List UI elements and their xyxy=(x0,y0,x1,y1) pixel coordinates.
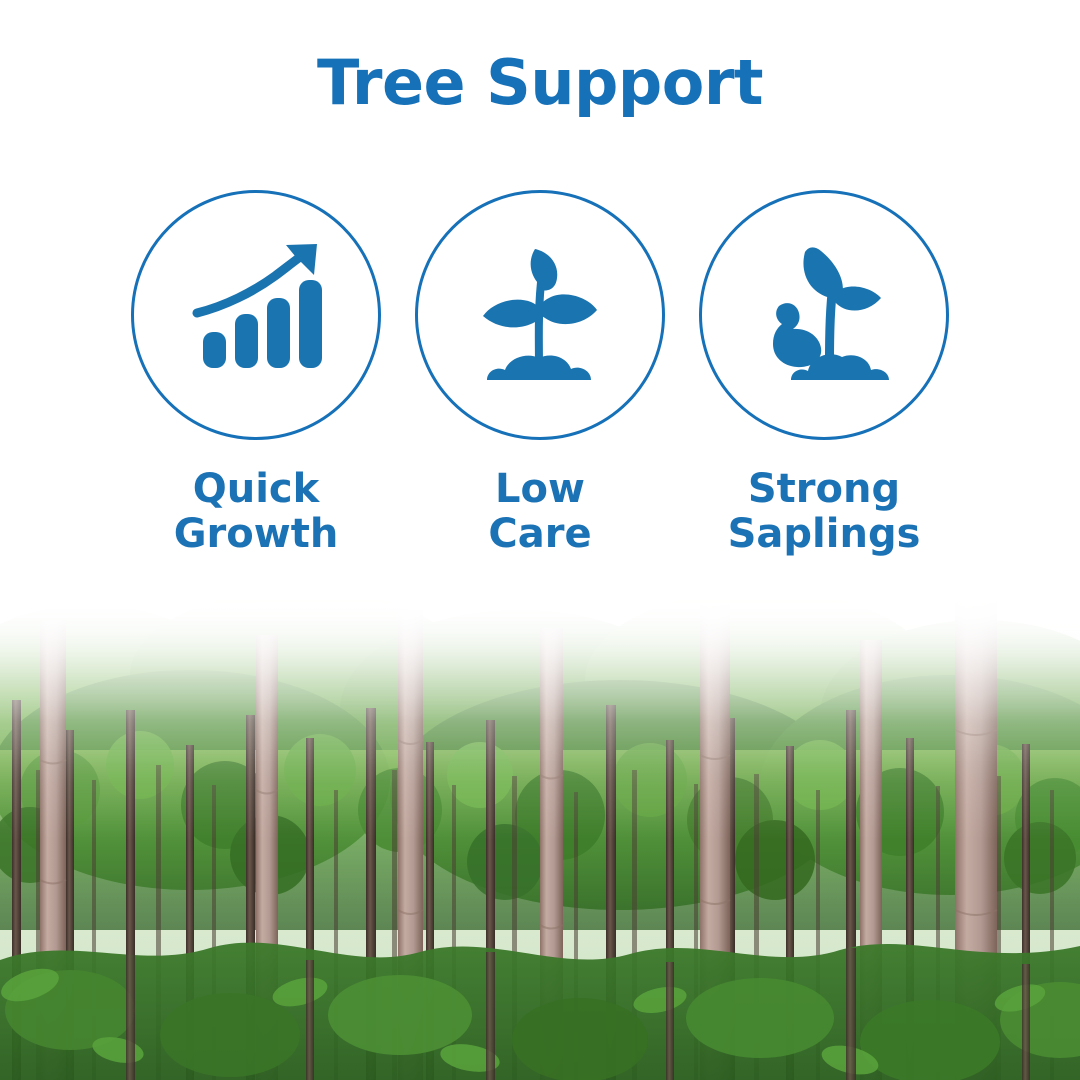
feature-item-strong-saplings[interactable]: Strong Saplings xyxy=(698,190,950,557)
page-title: Tree Support xyxy=(0,52,1080,114)
feature-label-low-care: Low Care xyxy=(488,467,591,557)
feature-label-strong-saplings: Strong Saplings xyxy=(728,467,921,557)
icon-ring-low-care xyxy=(415,190,665,440)
tree-plantation-photo xyxy=(0,580,1080,1080)
icon-ring-quick-growth xyxy=(131,190,381,440)
icon-ring-strong-saplings xyxy=(699,190,949,440)
feature-item-quick-growth[interactable]: Quick Growth xyxy=(130,190,382,557)
feature-list: Quick Growth xyxy=(0,190,1080,557)
feature-item-low-care[interactable]: Low Care xyxy=(414,190,666,557)
poster-canvas: Tree Support xyxy=(0,0,1080,1080)
strong-sapling-icon xyxy=(749,240,899,390)
seedling-icon xyxy=(465,240,615,390)
growth-chart-icon xyxy=(181,240,331,390)
feature-label-quick-growth: Quick Growth xyxy=(174,467,339,557)
